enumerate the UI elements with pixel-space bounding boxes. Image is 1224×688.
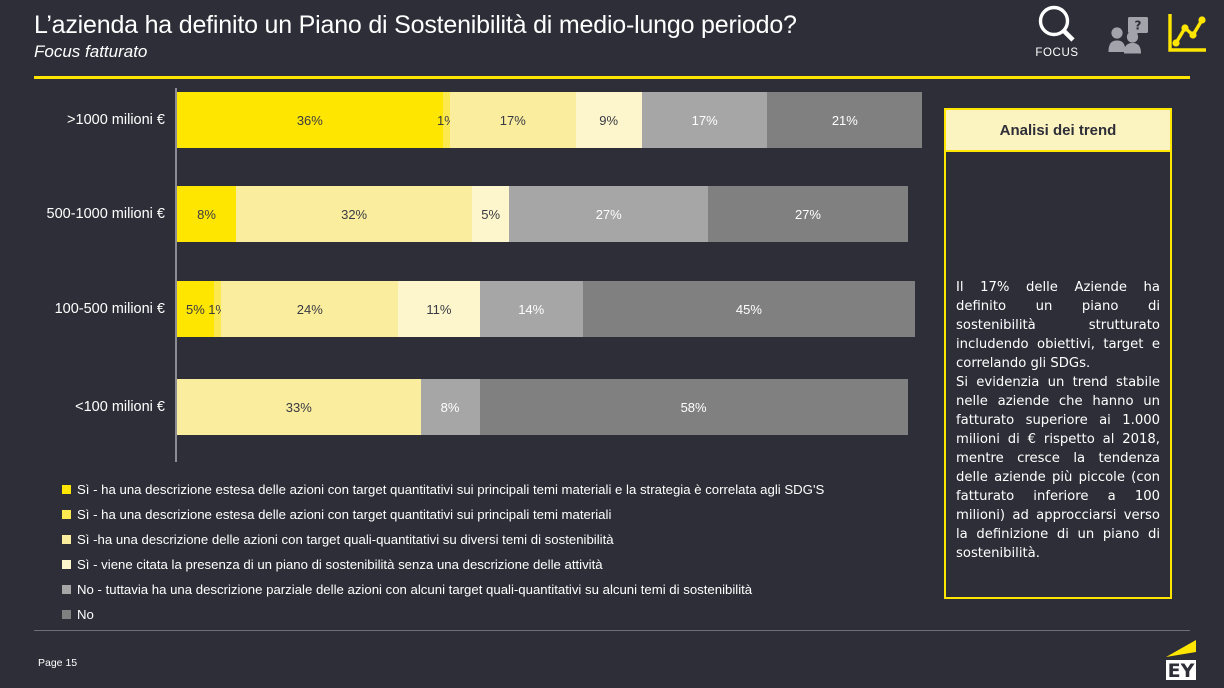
- chart-legend: Sì - ha una descrizione estesa delle azi…: [62, 480, 942, 630]
- legend-label: Sì - ha una descrizione estesa delle azi…: [77, 480, 824, 499]
- bar-segment-label: 5%: [481, 207, 500, 222]
- svg-text:EY: EY: [1168, 660, 1195, 680]
- stacked-bar: 8%32%5%27%27%: [177, 186, 908, 242]
- bar-segment: 9%: [576, 92, 642, 148]
- category-label: <100 milioni €: [0, 379, 165, 435]
- legend-swatch: [62, 485, 71, 494]
- bar-segment-label: 14%: [518, 302, 544, 317]
- slide-header: L’azienda ha definito un Piano di Sosten…: [0, 0, 1224, 78]
- ey-logo: EY: [1156, 640, 1200, 680]
- bar-segment-label: 27%: [596, 207, 622, 222]
- bar-segment: 36%: [177, 92, 443, 148]
- bar-segment: 27%: [509, 186, 708, 242]
- panel-title: Analisi dei trend: [944, 108, 1172, 152]
- bar-segment: 27%: [708, 186, 907, 242]
- stacked-bar: 5%1%24%11%14%45%: [177, 281, 915, 337]
- line-chart-icon[interactable]: [1166, 12, 1208, 54]
- search-icon: [1034, 2, 1080, 48]
- legend-swatch: [62, 560, 71, 569]
- people-question-icon[interactable]: ?: [1108, 16, 1152, 54]
- bar-segment-label: 5%: [186, 302, 205, 317]
- panel-body: Il 17% delle Aziende ha definito un pian…: [944, 152, 1172, 599]
- bar-segment: 33%: [177, 379, 421, 435]
- bar-segment: 5%: [472, 186, 509, 242]
- bar-segment-label: 21%: [832, 113, 858, 128]
- page-number: Page 15: [38, 657, 77, 669]
- bar-segment: 14%: [480, 281, 583, 337]
- trend-analysis-panel: Analisi dei trend Il 17% delle Aziende h…: [944, 108, 1172, 597]
- category-label: 100-500 milioni €: [0, 281, 165, 337]
- panel-paragraph-1: Il 17% delle Aziende ha definito un pian…: [956, 278, 1160, 373]
- bar-segment: 45%: [583, 281, 915, 337]
- panel-paragraph-2: Si evidenzia un trend stabile nelle azie…: [956, 373, 1160, 563]
- legend-swatch: [62, 535, 71, 544]
- bar-segment-label: 27%: [795, 207, 821, 222]
- bar-segment-label: 17%: [500, 113, 526, 128]
- category-label: 500-1000 milioni €: [0, 186, 165, 242]
- bar-segment-label: 11%: [426, 302, 451, 317]
- bar-segment-label: 8%: [441, 400, 460, 415]
- legend-item[interactable]: No - tuttavia ha una descrizione parzial…: [62, 580, 942, 605]
- page-title: L’azienda ha definito un Piano di Sosten…: [34, 10, 797, 40]
- legend-item[interactable]: No: [62, 605, 942, 630]
- chart-row: 500-1000 milioni €8%32%5%27%27%: [0, 186, 930, 242]
- chart-row: 100-500 milioni €5%1%24%11%14%45%: [0, 281, 930, 337]
- bar-segment: 1%: [443, 92, 450, 148]
- chart-row: >1000 milioni €36%1%17%9%17%21%: [0, 92, 930, 148]
- legend-label: No - tuttavia ha una descrizione parzial…: [77, 580, 752, 599]
- title-block: L’azienda ha definito un Piano di Sosten…: [34, 10, 797, 63]
- legend-item[interactable]: Sì - ha una descrizione estesa delle azi…: [62, 480, 942, 505]
- bar-segment: 24%: [221, 281, 398, 337]
- focus-label: FOCUS: [1035, 47, 1078, 59]
- stacked-bar-chart: >1000 milioni €36%1%17%9%17%21%500-1000 …: [0, 84, 930, 466]
- header-icon-group: FOCUS ?: [1020, 2, 1208, 72]
- bar-segment: 1%: [214, 281, 221, 337]
- bar-segment-label: 33%: [286, 400, 312, 415]
- legend-label: Sì - viene citata la presenza di un pian…: [77, 555, 603, 574]
- focus-button[interactable]: FOCUS: [1020, 2, 1094, 59]
- bar-segment: 8%: [421, 379, 480, 435]
- header-divider: [34, 76, 1190, 79]
- stacked-bar: 36%1%17%9%17%21%: [177, 92, 922, 148]
- legend-label: Sì -ha una descrizione delle azioni con …: [77, 530, 614, 549]
- stacked-bar: 33%8%58%: [177, 379, 908, 435]
- panel-spacer: [956, 174, 1160, 278]
- chart-row: <100 milioni €33%8%58%: [0, 379, 930, 435]
- bar-segment-label: 8%: [197, 207, 216, 222]
- legend-item[interactable]: Sì -ha una descrizione delle azioni con …: [62, 530, 942, 555]
- bar-segment: 21%: [767, 92, 922, 148]
- bar-segment: 17%: [642, 92, 767, 148]
- bar-segment-label: 36%: [297, 113, 323, 128]
- bar-segment: 32%: [236, 186, 472, 242]
- page-subtitle: Focus fatturato: [34, 41, 797, 63]
- footer-divider: [34, 630, 1190, 631]
- bar-segment: 17%: [450, 92, 575, 148]
- bar-segment: 11%: [398, 281, 479, 337]
- legend-label: Sì - ha una descrizione estesa delle azi…: [77, 505, 611, 524]
- bar-segment-label: 9%: [599, 113, 618, 128]
- bar-segment-label: 32%: [341, 207, 367, 222]
- legend-label: No: [77, 605, 94, 624]
- legend-item[interactable]: Sì - viene citata la presenza di un pian…: [62, 555, 942, 580]
- legend-swatch: [62, 585, 71, 594]
- bar-segment-label: 58%: [681, 400, 707, 415]
- bar-segment-label: 17%: [692, 113, 718, 128]
- bar-segment-label: 24%: [297, 302, 323, 317]
- bar-segment: 58%: [480, 379, 908, 435]
- legend-item[interactable]: Sì - ha una descrizione estesa delle azi…: [62, 505, 942, 530]
- slide: L’azienda ha definito un Piano di Sosten…: [0, 0, 1224, 688]
- legend-swatch: [62, 610, 71, 619]
- category-label: >1000 milioni €: [0, 92, 165, 148]
- legend-swatch: [62, 510, 71, 519]
- bar-segment-label: 45%: [736, 302, 762, 317]
- bar-segment: 8%: [177, 186, 236, 242]
- svg-text:?: ?: [1135, 19, 1142, 33]
